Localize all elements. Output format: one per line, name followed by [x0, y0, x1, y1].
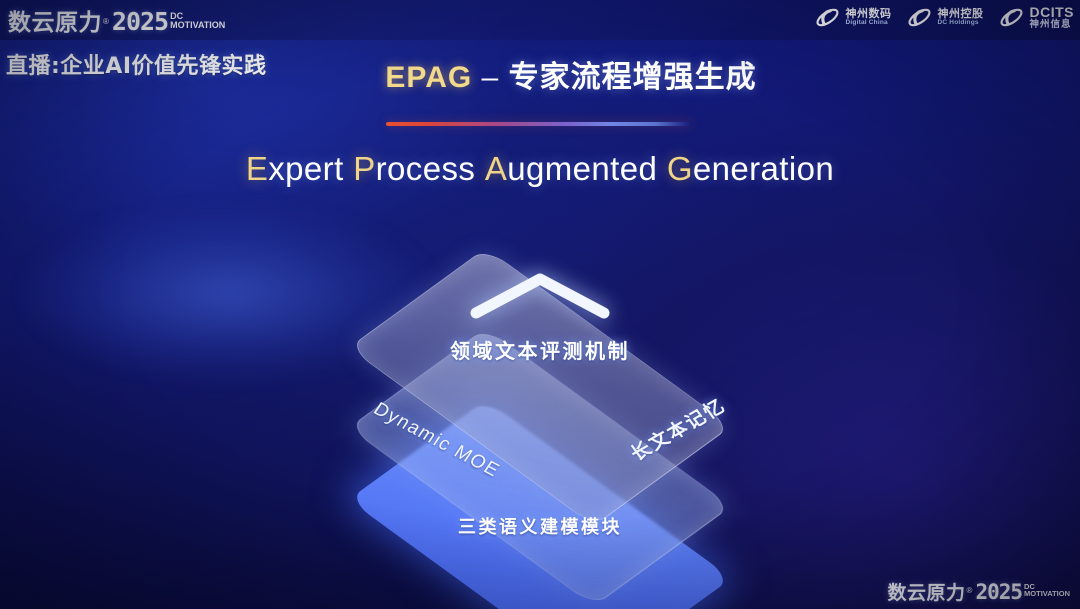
- subtitle-initial-e: E: [246, 150, 268, 187]
- chevron-up-icon: [468, 269, 612, 321]
- stack-label-bottom: 三类语义建模模块: [311, 513, 769, 539]
- brand-registered-mark: ®: [967, 586, 973, 595]
- brand-logo-footer: 数云原力 ® 2025 DC MOTIVATION: [888, 578, 1070, 605]
- swoosh-icon: [998, 4, 1025, 31]
- partner-name-en: DCITS: [1030, 5, 1075, 20]
- brand-year: 2025: [112, 7, 168, 36]
- brand-registered-mark: ®: [103, 17, 109, 26]
- swoosh-icon: [814, 4, 841, 31]
- partner-logo-digital-china: 神州数码 Digital China: [814, 4, 892, 31]
- brand-tagline: DC MOTIVATION: [1024, 584, 1070, 598]
- title-chinese: 专家流程增强生成: [509, 60, 757, 95]
- subtitle-initial-a: A: [485, 150, 507, 187]
- title-dash: –: [482, 61, 500, 94]
- page-subtitle: Expert Process Augmented Generation: [0, 150, 1080, 188]
- subtitle-rest-process: rocess: [376, 150, 476, 187]
- subtitle-initial-p: P: [353, 150, 375, 187]
- brand-logo-header: 数云原力 ® 2025 DC MOTIVATION: [8, 3, 225, 37]
- brand-tagline-line2: MOTIVATION: [170, 21, 225, 29]
- subtitle-rest-generation: eneration: [693, 150, 834, 187]
- subtitle-initial-g: G: [667, 150, 693, 187]
- subtitle-rest-augmented: ugmented: [507, 150, 657, 187]
- brand-tagline-line2: MOTIVATION: [1024, 591, 1070, 598]
- slide-canvas: 数云原力 ® 2025 DC MOTIVATION 神州数码 Digita: [0, 0, 1080, 609]
- brand-name-cn: 数云原力: [888, 578, 966, 605]
- partner-text: DCITS 神州信息: [1030, 5, 1075, 30]
- subtitle-rest-expert: xpert: [268, 150, 343, 187]
- partner-text: 神州控股 DC Holdings: [938, 8, 984, 26]
- partner-name-en: DC Holdings: [938, 20, 984, 27]
- brand-tagline: DC MOTIVATION: [170, 12, 225, 29]
- live-stream-banner: 直播:企业AI价值先锋实践: [6, 48, 267, 80]
- partner-logo-dc-holdings: 神州控股 DC Holdings: [906, 4, 984, 31]
- swoosh-icon: [906, 4, 933, 31]
- partner-logo-dcits: DCITS 神州信息: [998, 4, 1075, 31]
- title-acronym: EPAG: [385, 61, 472, 94]
- top-bar: 数云原力 ® 2025 DC MOTIVATION 神州数码 Digita: [0, 0, 1080, 40]
- brand-name-cn: 数云原力: [8, 3, 102, 37]
- stack-label-top: 领域文本评测机制: [311, 335, 769, 364]
- partner-logo-group: 神州数码 Digital China 神州控股 DC Holdings: [814, 4, 1075, 31]
- partner-name-cn: 神州信息: [1030, 20, 1075, 30]
- layer-stack-diagram: 领域文本评测机制 Dynamic MOE 长文本记忆 三类语义建模模块: [311, 231, 769, 571]
- partner-text: 神州数码 Digital China: [846, 8, 892, 26]
- partner-name-en: Digital China: [846, 20, 892, 27]
- brand-year: 2025: [975, 580, 1022, 604]
- title-divider-rule: [386, 122, 692, 126]
